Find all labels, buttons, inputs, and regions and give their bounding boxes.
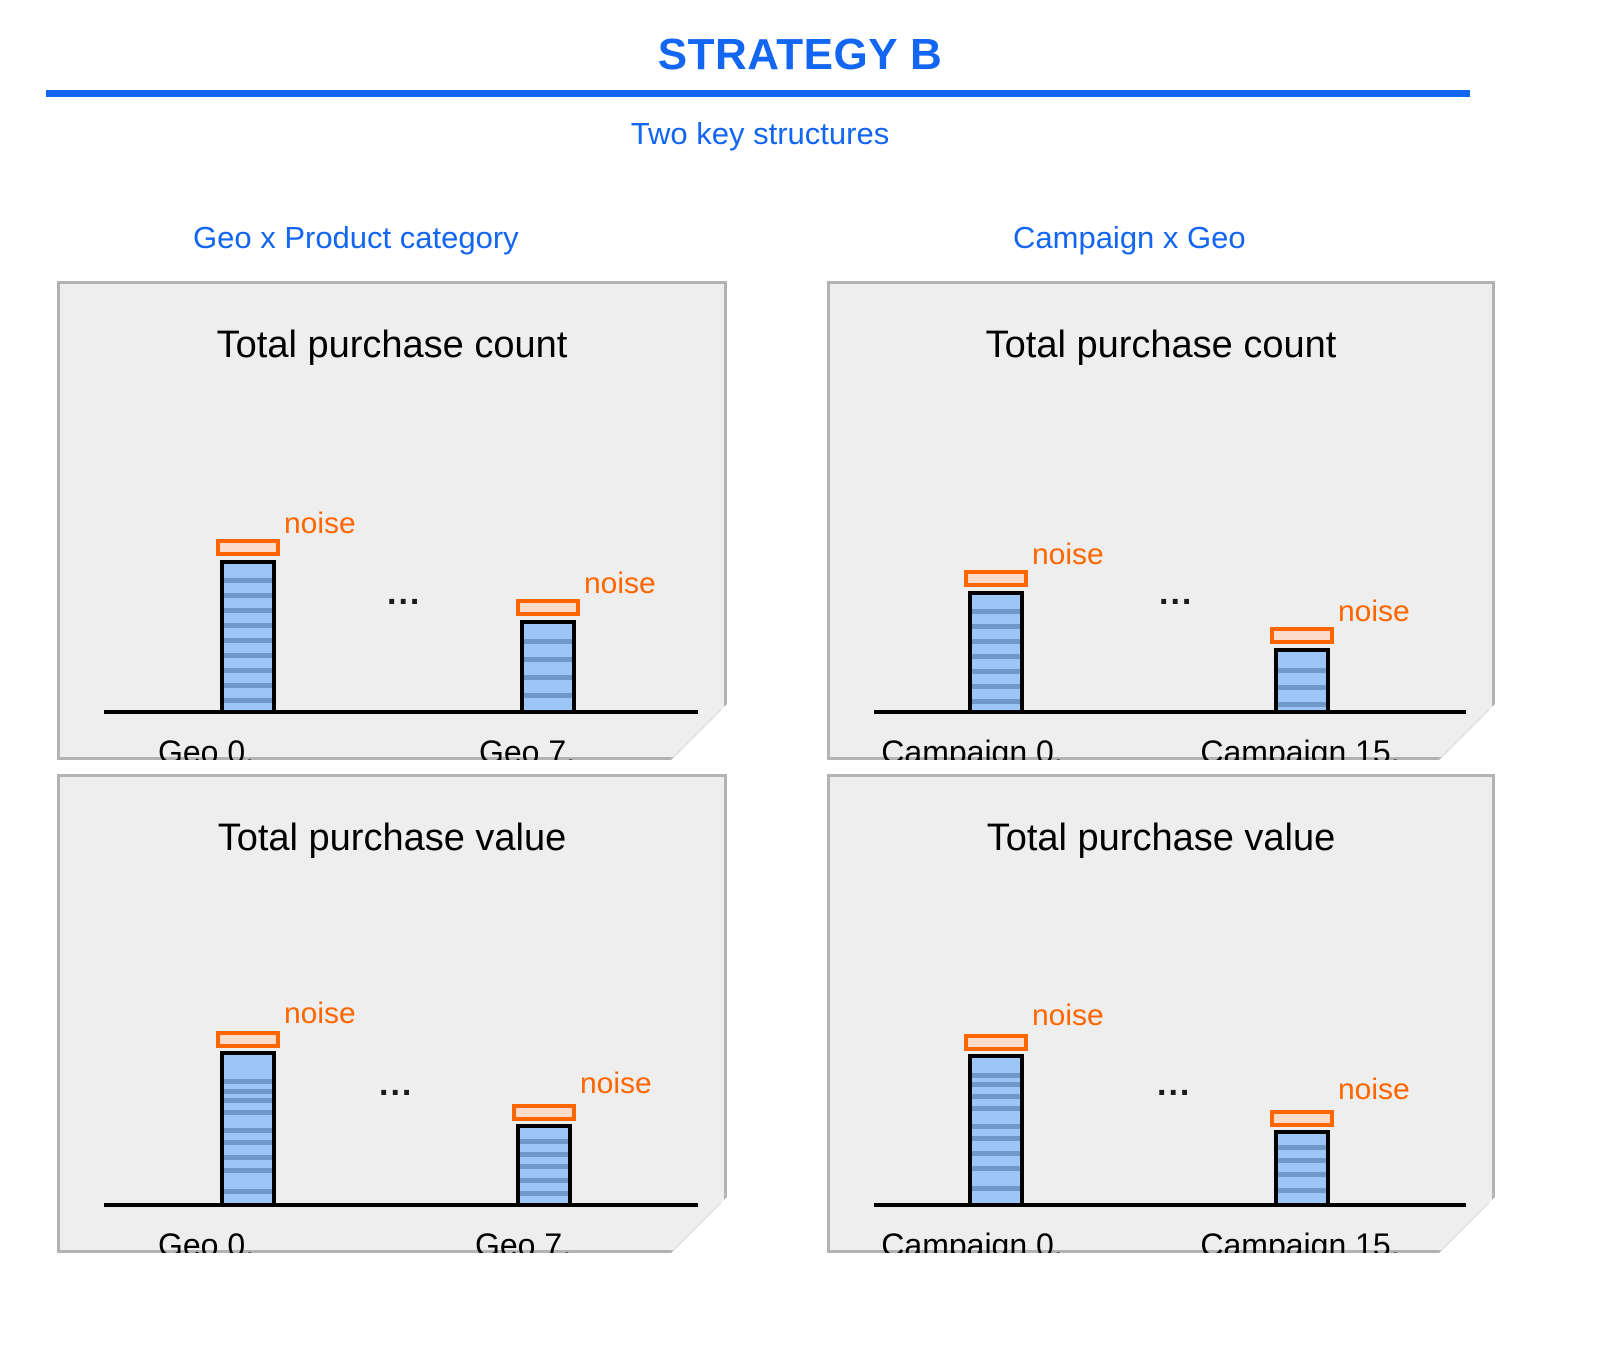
bars-ellipsis: ... (379, 1065, 413, 1104)
bar-chart: noise ... noise (874, 887, 1466, 1207)
card-fold-line (1431, 1202, 1491, 1262)
category-label-0: Geo 0, Product cat 0 (116, 1225, 296, 1305)
noise-cap-inner (1274, 1114, 1330, 1123)
bar-0 (220, 1051, 276, 1203)
bar-0 (968, 1054, 1024, 1203)
x-axis-line (874, 1203, 1466, 1207)
category-ellipsis: ... (1120, 1264, 1153, 1301)
noise-cap-inner (968, 574, 1024, 583)
noise-cap-0 (964, 570, 1028, 587)
bars-ellipsis: ... (387, 574, 421, 613)
category-label-1: Geo 7, Product cat 28 (408, 1225, 638, 1305)
noise-label-1: noise (1338, 1073, 1410, 1107)
card-title: Total purchase count (60, 324, 724, 367)
card-geo-product-purchase-count: Total purchase count noise ... (57, 281, 727, 760)
card-title: Total purchase value (830, 817, 1492, 860)
noise-label-1: noise (584, 567, 656, 601)
noise-cap-inner (968, 1038, 1024, 1047)
card-title: Total purchase value (60, 817, 724, 860)
category-label-0: Campaign 0, Geo 0 (852, 1225, 1092, 1305)
bar-group-0 (220, 560, 276, 710)
x-axis-line (874, 710, 1466, 714)
bars-ellipsis: ... (1157, 1065, 1191, 1104)
noise-cap-1 (1270, 1110, 1334, 1127)
bar-1 (516, 1124, 572, 1203)
bar-chart: noise ... noise (874, 394, 1466, 714)
column-heading-geo-product: Geo x Product category (193, 220, 519, 256)
bar-1 (1274, 648, 1330, 710)
bar-group-1 (1274, 648, 1330, 710)
card-title: Total purchase count (830, 324, 1492, 367)
column-heading-campaign-geo: Campaign x Geo (1013, 220, 1246, 256)
card-fold-line (663, 709, 723, 769)
category-label-1: Campaign 15, Geo 7 (1170, 1225, 1430, 1305)
noise-cap-1 (512, 1104, 576, 1121)
page-title: STRATEGY B (0, 30, 1600, 80)
noise-cap-inner (1274, 631, 1330, 640)
bar-group-0 (968, 591, 1024, 710)
noise-cap-0 (216, 1031, 280, 1048)
x-axis-line (104, 710, 698, 714)
noise-cap-inner (516, 1108, 572, 1117)
noise-cap-inner (520, 603, 576, 612)
card-geo-product-purchase-value: Total purchase value noise ... (57, 774, 727, 1253)
bar-group-1 (516, 1124, 572, 1203)
bar-chart: noise ... noise (104, 394, 698, 714)
noise-label-0: noise (284, 997, 356, 1031)
noise-cap-1 (1270, 627, 1334, 644)
bar-1 (520, 620, 576, 710)
noise-label-0: noise (1032, 999, 1104, 1033)
noise-cap-inner (220, 1035, 276, 1044)
noise-cap-0 (964, 1034, 1028, 1051)
noise-label-0: noise (1032, 538, 1104, 572)
noise-label-1: noise (1338, 595, 1410, 629)
bar-group-0 (968, 1054, 1024, 1203)
noise-cap-0 (216, 539, 280, 556)
bar-group-1 (1274, 1130, 1330, 1203)
bar-group-0 (220, 1051, 276, 1203)
bars-ellipsis: ... (1159, 574, 1193, 613)
page-subtitle: Two key structures (0, 116, 1520, 152)
category-ellipsis: ... (378, 1264, 411, 1301)
title-divider (46, 90, 1470, 97)
bar-0 (220, 560, 276, 710)
card-fold-line (1431, 709, 1491, 769)
card-fold-line (663, 1202, 723, 1262)
bar-0 (968, 591, 1024, 710)
noise-cap-inner (220, 543, 276, 552)
card-campaign-geo-purchase-value: Total purchase value noise ... (827, 774, 1495, 1253)
bar-1 (1274, 1130, 1330, 1203)
bar-chart: noise ... noise (104, 887, 698, 1207)
bar-group-1 (520, 620, 576, 710)
noise-label-0: noise (284, 507, 356, 541)
noise-label-1: noise (580, 1067, 652, 1101)
x-axis-line (104, 1203, 698, 1207)
card-campaign-geo-purchase-count: Total purchase count noise ... (827, 281, 1495, 760)
noise-cap-1 (516, 599, 580, 616)
